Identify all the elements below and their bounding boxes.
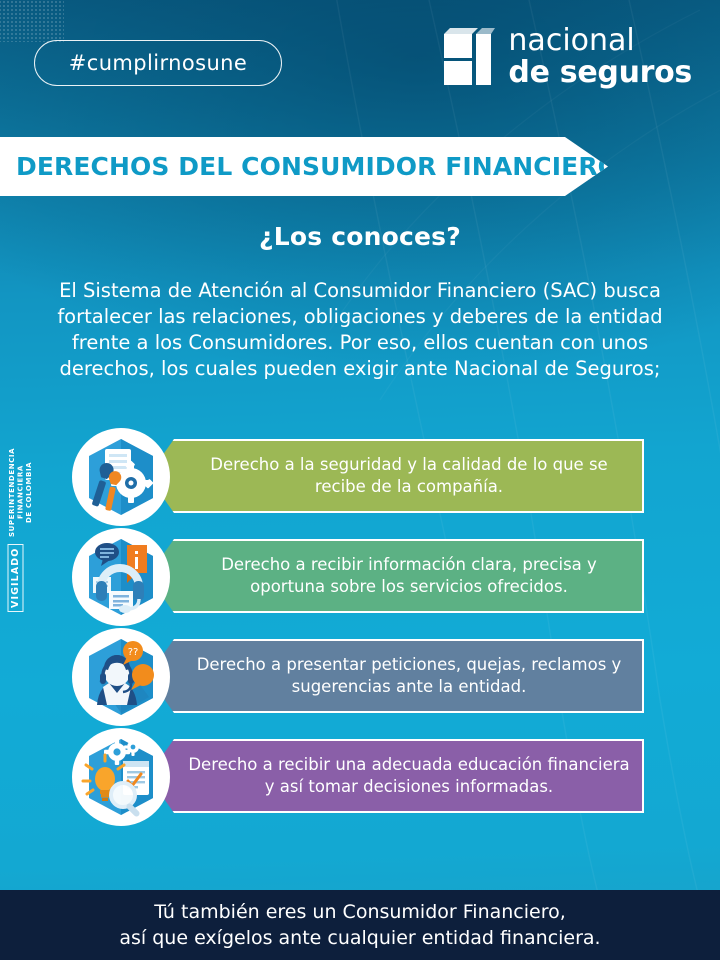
right-pill: Derecho a la seguridad y la calidad de l… (148, 439, 644, 513)
hashtag-label: #cumplirnosune (69, 51, 247, 75)
page-title: DERECHOS DEL CONSUMIDOR FINANCIERO (0, 152, 619, 181)
list-item[interactable]: ?? Derecho a presentar peticiones, queja… (0, 626, 720, 726)
top-bar: #cumplirnosune nacional de seguros (0, 0, 720, 130)
documents-gear-wrench-icon (72, 428, 170, 526)
right-text: Derecho a recibir información clara, pre… (176, 554, 642, 598)
agent-chat-bubbles-icon: ?? (72, 628, 170, 726)
right-text: Derecho a recibir una adecuada educación… (176, 754, 642, 798)
footer-line-2: así que exígelos ante cualquier entidad … (119, 925, 600, 951)
right-pill: Derecho a recibir información clara, pre… (148, 539, 644, 613)
list-item[interactable]: Derecho a recibir una adecuada educación… (0, 726, 720, 826)
brand-wordmark: nacional de seguros (508, 27, 692, 87)
brand-logo: nacional de seguros (443, 26, 692, 88)
infographic-poster: #cumplirnosune nacional de seguros DEREC… (0, 0, 720, 960)
right-pill: Derecho a presentar peticiones, quejas, … (148, 639, 644, 713)
list-item[interactable]: Derecho a la seguridad y la calidad de l… (0, 426, 720, 526)
list-item[interactable]: Derecho a recibir información clara, pre… (0, 526, 720, 626)
svg-text:??: ?? (128, 647, 139, 658)
lightbulb-document-magnifier-icon (72, 728, 170, 826)
subtitle: ¿Los conoces? (0, 222, 720, 251)
building-blocks-logo-icon (443, 26, 495, 88)
right-text: Derecho a presentar peticiones, quejas, … (176, 654, 642, 698)
footer-banner: Tú también eres un Consumidor Financiero… (0, 890, 720, 960)
brand-line1: nacional (508, 27, 692, 56)
footer-line-1: Tú también eres un Consumidor Financiero… (154, 899, 566, 925)
right-pill: Derecho a recibir una adecuada educación… (148, 739, 644, 813)
rights-list: Derecho a la seguridad y la calidad de l… (0, 426, 720, 826)
headset-information-icon (72, 528, 170, 626)
header-ribbon: DERECHOS DEL CONSUMIDOR FINANCIERO (0, 137, 608, 196)
intro-paragraph: El Sistema de Atención al Consumidor Fin… (30, 278, 690, 382)
hashtag-pill[interactable]: #cumplirnosune (34, 40, 282, 86)
brand-line2: de seguros (508, 59, 692, 88)
right-text: Derecho a la seguridad y la calidad de l… (176, 454, 642, 498)
